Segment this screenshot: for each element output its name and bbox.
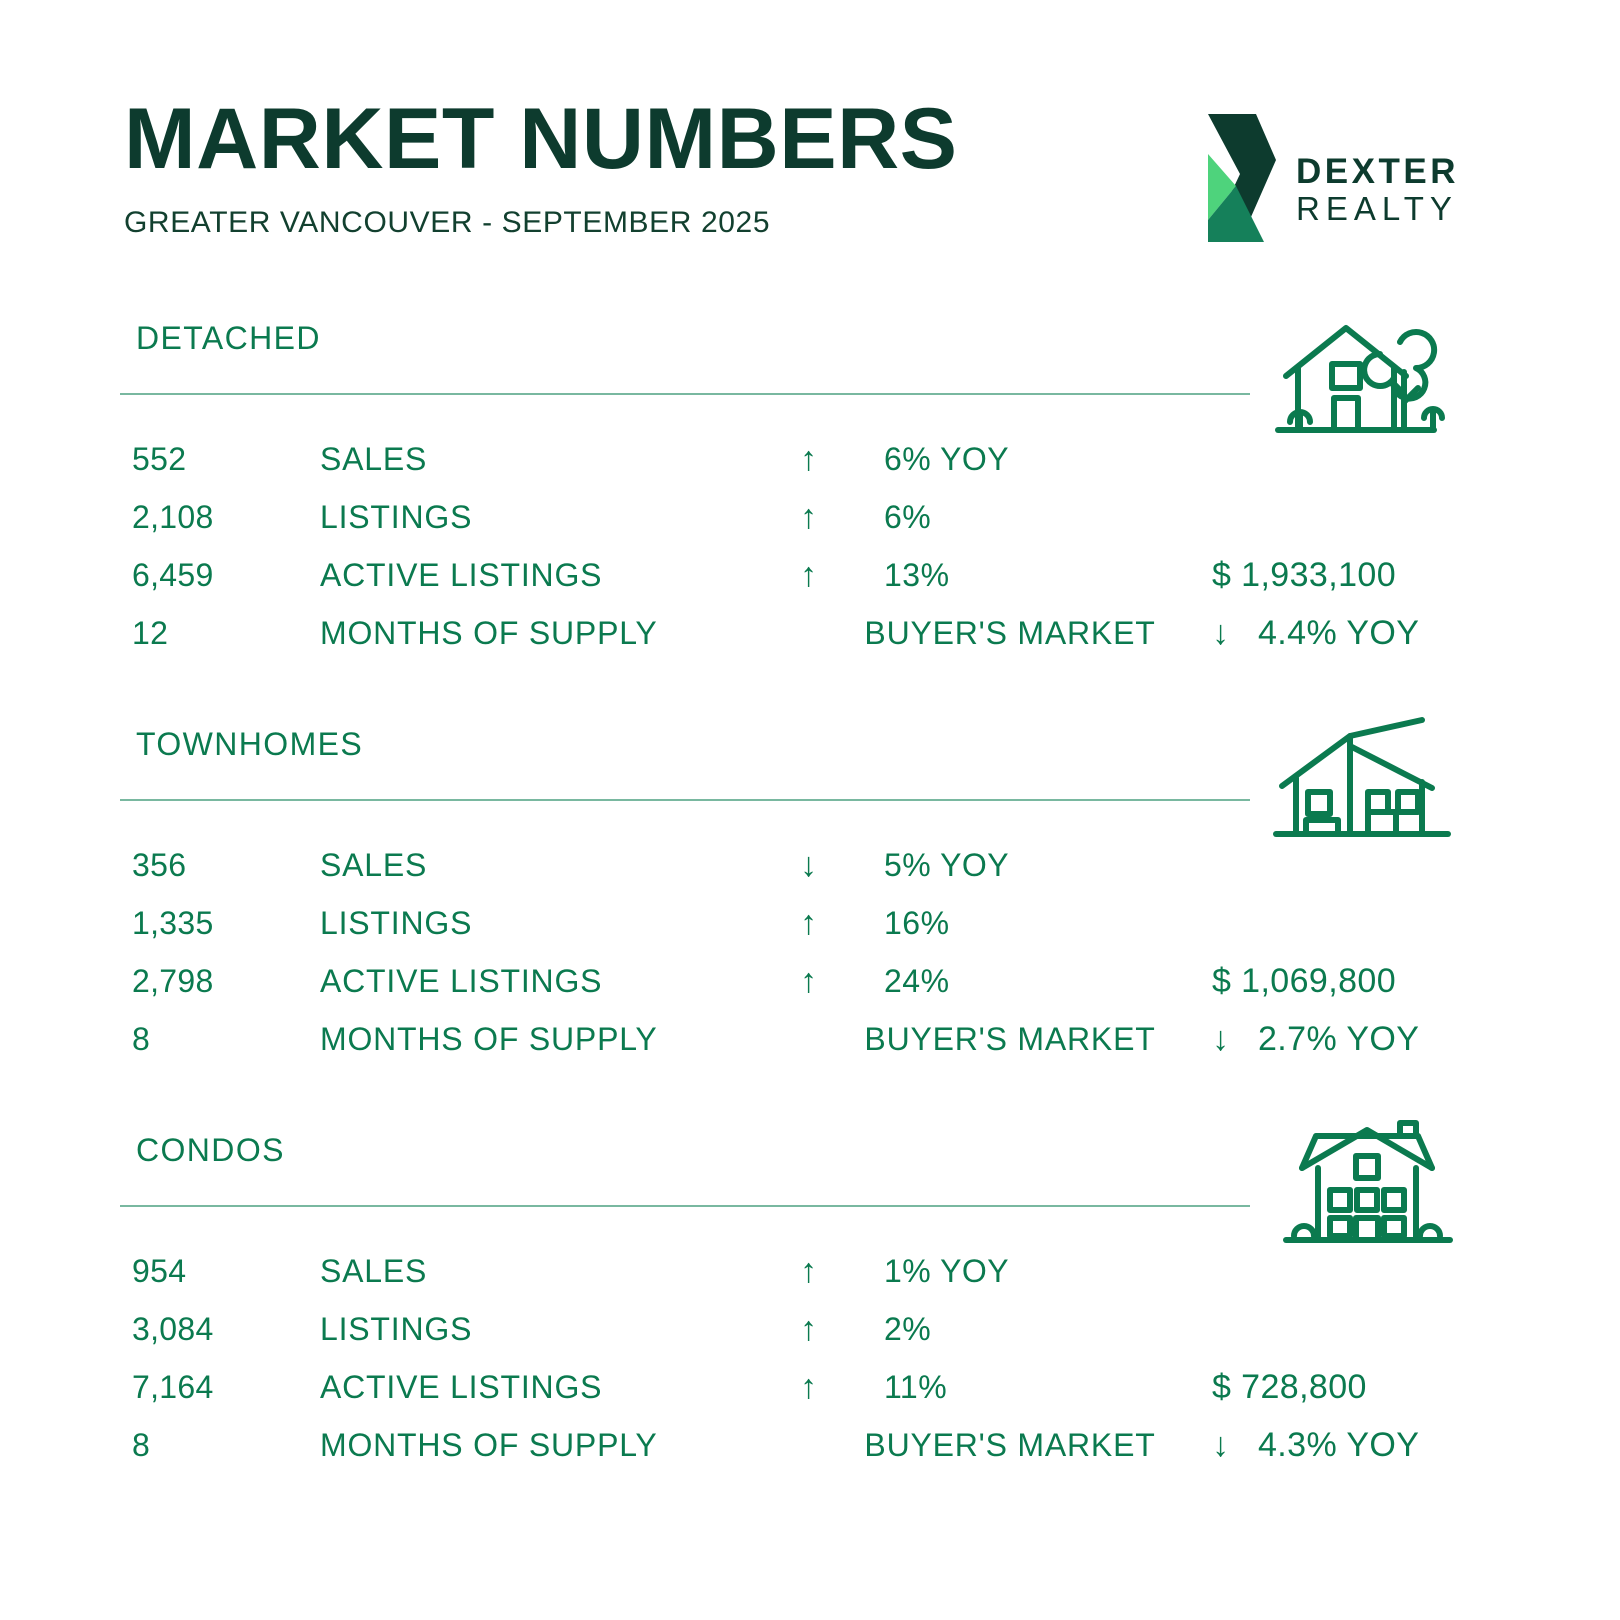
active-listings-value: 2,798 (132, 963, 312, 1000)
active-listings-change: 11% (884, 1369, 1214, 1406)
months-of-supply-label: MONTHS OF SUPPLY (320, 1021, 760, 1058)
section-rows: 954 SALES ↑ 1% YOY 3,084 LISTINGS ↑ 2% 7… (0, 1242, 1620, 1474)
active-listings-value: 7,164 (132, 1369, 312, 1406)
months-of-supply-value: 12 (132, 615, 312, 652)
row-months-of-supply: 12 MONTHS OF SUPPLY BUYER'S MARKET ↓ 4.4… (0, 604, 1620, 662)
section-divider (120, 1205, 1250, 1207)
row-active-listings: 7,164 ACTIVE LISTINGS ↑ 11% $ 728,800 (0, 1358, 1620, 1416)
logo-name: DEXTER (1296, 154, 1459, 191)
active-listings-label: ACTIVE LISTINGS (320, 963, 760, 1000)
listings-value: 3,084 (132, 1311, 312, 1348)
price-change-arrow-icon: ↓ (1212, 1022, 1252, 1056)
row-months-of-supply: 8 MONTHS OF SUPPLY BUYER'S MARKET ↓ 4.3%… (0, 1416, 1620, 1474)
listings-change: 16% (884, 905, 1214, 942)
apartment-building-icon (1272, 1114, 1462, 1254)
price-change: 4.3% YOY (1258, 1426, 1558, 1465)
sales-value: 356 (132, 847, 312, 884)
section-title: DETACHED (136, 320, 321, 357)
market-condition: BUYER'S MARKET (800, 1021, 1220, 1058)
row-active-listings: 2,798 ACTIVE LISTINGS ↑ 24% $ 1,069,800 (0, 952, 1620, 1010)
logo-subname: REALTY (1296, 190, 1459, 228)
sales-change: 6% YOY (884, 441, 1214, 478)
active-listings-value: 6,459 (132, 557, 312, 594)
listings-arrow-icon: ↑ (800, 500, 844, 534)
house-with-tree-icon (1272, 302, 1462, 442)
active-listings-arrow-icon: ↑ (800, 1370, 844, 1404)
active-listings-arrow-icon: ↑ (800, 558, 844, 592)
market-condition: BUYER'S MARKET (800, 1427, 1220, 1464)
section-divider (120, 393, 1250, 395)
listings-label: LISTINGS (320, 1311, 760, 1348)
section-title: CONDOS (136, 1132, 285, 1169)
row-sales: 552 SALES ↑ 6% YOY (0, 430, 1620, 488)
row-sales: 954 SALES ↑ 1% YOY (0, 1242, 1620, 1300)
listings-value: 1,335 (132, 905, 312, 942)
sales-arrow-icon: ↓ (800, 848, 844, 882)
months-of-supply-label: MONTHS OF SUPPLY (320, 615, 760, 652)
market-numbers-infographic: MARKET NUMBERS GREATER VANCOUVER - SEPTE… (0, 0, 1620, 1620)
section-rows: 552 SALES ↑ 6% YOY 2,108 LISTINGS ↑ 6% 6… (0, 430, 1620, 662)
sales-arrow-icon: ↑ (800, 442, 844, 476)
section-rows: 356 SALES ↓ 5% YOY 1,335 LISTINGS ↑ 16% … (0, 836, 1620, 1068)
listings-change: 6% (884, 499, 1214, 536)
listings-label: LISTINGS (320, 499, 760, 536)
active-listings-label: ACTIVE LISTINGS (320, 1369, 760, 1406)
row-sales: 356 SALES ↓ 5% YOY (0, 836, 1620, 894)
row-listings: 1,335 LISTINGS ↑ 16% (0, 894, 1620, 952)
months-of-supply-value: 8 (132, 1021, 312, 1058)
months-of-supply-label: MONTHS OF SUPPLY (320, 1427, 760, 1464)
row-months-of-supply: 8 MONTHS OF SUPPLY BUYER'S MARKET ↓ 2.7%… (0, 1010, 1620, 1068)
sales-change: 1% YOY (884, 1253, 1214, 1290)
active-listings-label: ACTIVE LISTINGS (320, 557, 760, 594)
listings-arrow-icon: ↑ (800, 906, 844, 940)
logo-wordmark: DEXTER REALTY (1296, 128, 1459, 229)
listings-label: LISTINGS (320, 905, 760, 942)
listings-change: 2% (884, 1311, 1214, 1348)
row-active-listings: 6,459 ACTIVE LISTINGS ↑ 13% $ 1,933,100 (0, 546, 1620, 604)
benchmark-price: $ 728,800 (1212, 1368, 1512, 1407)
dexter-realty-logo: DEXTER REALTY (1178, 108, 1468, 248)
sales-label: SALES (320, 1253, 760, 1290)
sales-arrow-icon: ↑ (800, 1254, 844, 1288)
listings-value: 2,108 (132, 499, 312, 536)
active-listings-arrow-icon: ↑ (800, 964, 844, 998)
dexter-logo-mark (1178, 108, 1282, 248)
sales-value: 552 (132, 441, 312, 478)
months-of-supply-value: 8 (132, 1427, 312, 1464)
price-change: 2.7% YOY (1258, 1020, 1558, 1059)
benchmark-price: $ 1,069,800 (1212, 962, 1512, 1001)
price-change: 4.4% YOY (1258, 614, 1558, 653)
section-divider (120, 799, 1250, 801)
townhouse-icon (1272, 708, 1462, 848)
active-listings-change: 24% (884, 963, 1214, 1000)
active-listings-change: 13% (884, 557, 1214, 594)
market-condition: BUYER'S MARKET (800, 615, 1220, 652)
sales-value: 954 (132, 1253, 312, 1290)
benchmark-price: $ 1,933,100 (1212, 556, 1512, 595)
sales-label: SALES (320, 441, 760, 478)
row-listings: 3,084 LISTINGS ↑ 2% (0, 1300, 1620, 1358)
listings-arrow-icon: ↑ (800, 1312, 844, 1346)
section-title: TOWNHOMES (136, 726, 363, 763)
sales-label: SALES (320, 847, 760, 884)
price-change-arrow-icon: ↓ (1212, 616, 1252, 650)
sales-change: 5% YOY (884, 847, 1214, 884)
row-listings: 2,108 LISTINGS ↑ 6% (0, 488, 1620, 546)
price-change-arrow-icon: ↓ (1212, 1428, 1252, 1462)
